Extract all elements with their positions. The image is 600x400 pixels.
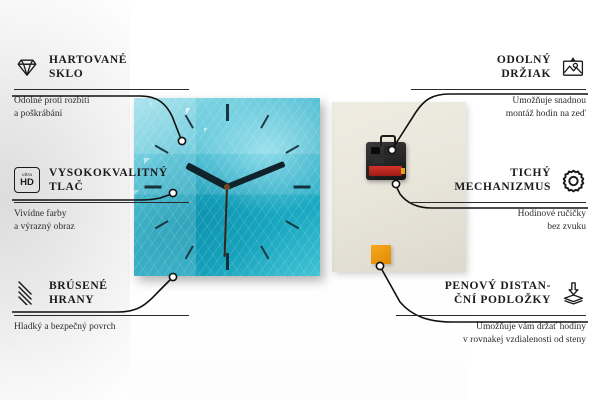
feature-title: BRÚSENÉHRANY: [49, 279, 108, 308]
picture-frame-hanger-icon: [560, 54, 586, 80]
feature-heading: ultra HD VYSOKOKVALITNÝTLAČ: [14, 163, 189, 197]
gear-icon: [560, 167, 586, 193]
connector-dot-tempered-glass: [178, 137, 185, 144]
feature-heading: HARTOVANÉSKLO: [14, 50, 189, 84]
diamond-icon: [14, 54, 40, 80]
feature-heading: TICHÝMECHANIZMUS: [411, 163, 586, 197]
feature-title: PENOVÝ DISTAN-ČNÍ PODLOŽKY: [445, 279, 551, 308]
feature-divider: [14, 202, 189, 203]
feature-description: Umožňuje snadnoumontáž hodin na zeď: [411, 95, 586, 120]
feature-title: VYSOKOKVALITNÝTLAČ: [49, 166, 168, 195]
feature-description: Hladký a bezpečný povrch: [14, 321, 189, 334]
feature-durable-holder: ODOLNÝDRŽIAK Umožňuje snadnoumontáž hodi…: [411, 50, 586, 120]
feature-divider: [14, 89, 189, 90]
feature-description: Hodinové ručičkybez zvuku: [411, 208, 586, 233]
feature-title: ODOLNÝDRŽIAK: [497, 53, 551, 82]
feature-title: HARTOVANÉSKLO: [49, 53, 127, 82]
feature-divider: [411, 202, 586, 203]
connector-dot-durable-holder: [388, 146, 395, 153]
feature-title: TICHÝMECHANIZMUS: [454, 166, 551, 195]
connector-dot-silent-mechanism: [392, 180, 399, 187]
connector-dot-foam-spacers: [376, 262, 383, 269]
feature-high-quality-print: ultra HD VYSOKOKVALITNÝTLAČ Vivídne farb…: [14, 163, 189, 233]
hd-label: HD: [20, 178, 34, 188]
infographic-canvas: HARTOVANÉSKLO Odolné proti rozbitía pošk…: [0, 0, 600, 400]
feature-ground-edges: BRÚSENÉHRANY Hladký a bezpečný povrch: [14, 276, 189, 334]
feature-silent-mechanism: TICHÝMECHANIZMUS Hodinové ručičkybez zvu…: [411, 163, 586, 233]
feature-description: Vivídne farbya výrazný obraz: [14, 208, 189, 233]
feature-description: Umožňuje vám držať hodinyv rovnakej vzdi…: [396, 321, 586, 346]
feature-description: Odolné proti rozbitía poškrábání: [14, 95, 189, 120]
feature-heading: ODOLNÝDRŽIAK: [411, 50, 586, 84]
feature-divider: [411, 89, 586, 90]
feature-tempered-glass: HARTOVANÉSKLO Odolné proti rozbitía pošk…: [14, 50, 189, 120]
feature-heading: PENOVÝ DISTAN-ČNÍ PODLOŽKY: [396, 276, 586, 310]
press-down-layers-icon: [560, 280, 586, 306]
diagonal-lines-icon: [14, 280, 40, 306]
feature-divider: [396, 315, 586, 316]
feature-heading: BRÚSENÉHRANY: [14, 276, 189, 310]
feature-divider: [14, 315, 189, 316]
ultra-hd-badge-icon: ultra HD: [14, 167, 40, 193]
feature-foam-spacers: PENOVÝ DISTAN-ČNÍ PODLOŽKY Umožňuje vám …: [396, 276, 586, 346]
